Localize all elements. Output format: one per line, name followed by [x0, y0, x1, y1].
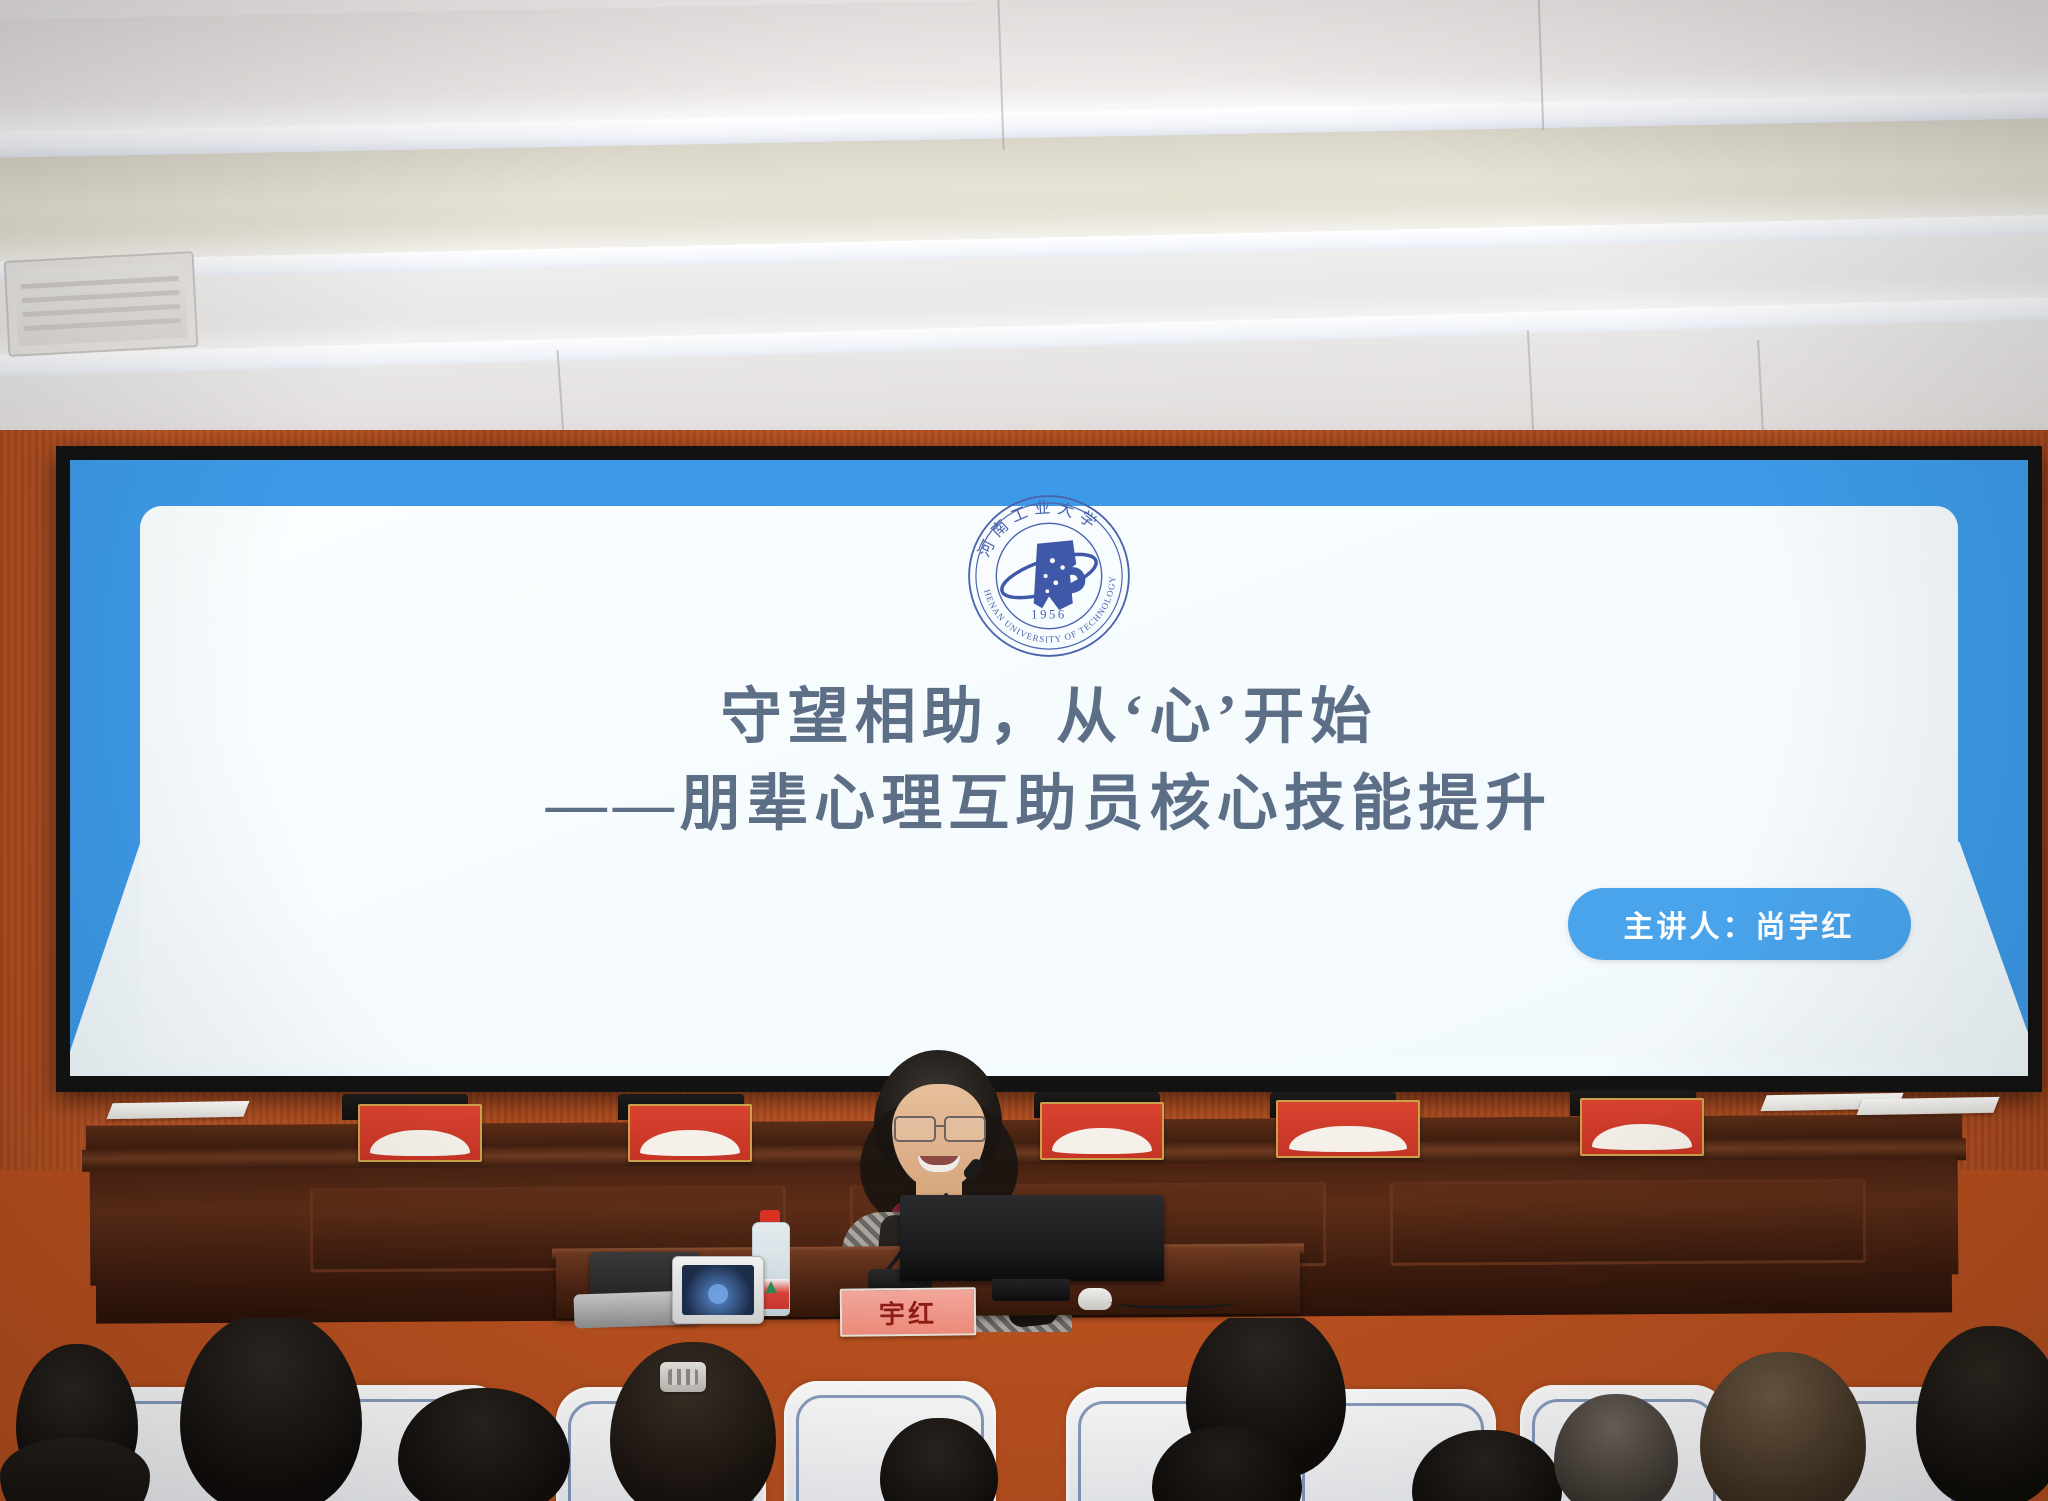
- svg-text:1956: 1956: [1031, 607, 1067, 621]
- paper-sheet: [106, 1101, 249, 1119]
- name-card-holder: [628, 1104, 752, 1162]
- slide-title-line-1: 守望相助，从‘心’开始: [70, 666, 2028, 755]
- audience-head: [1700, 1352, 1866, 1501]
- paper-sheet: [1856, 1097, 1999, 1115]
- podium-panel: [1390, 1179, 1867, 1266]
- audience-head: [1916, 1326, 2048, 1501]
- name-card-holder: [1580, 1098, 1704, 1156]
- monitor[interactable]: [900, 1195, 1164, 1281]
- glasses-icon: [892, 1116, 988, 1140]
- monitor-stand: [992, 1279, 1070, 1301]
- audience-head: [180, 1318, 362, 1501]
- audience-hair: [0, 1438, 150, 1501]
- name-card-holder: [358, 1104, 482, 1162]
- air-vent-icon: [4, 251, 199, 357]
- lecture-hall-scene: 1956 河南工业大学 HENAN UNIVERSITY OF TECHNOLO…: [0, 0, 2048, 1501]
- computer-mouse[interactable]: [1078, 1288, 1112, 1310]
- university-emblem-icon: 1956 河南工业大学 HENAN UNIVERSITY OF TECHNOLO…: [964, 491, 1134, 661]
- hair-clip: [660, 1362, 706, 1392]
- ceiling: [0, 0, 2048, 452]
- audience-seating: [0, 1318, 2048, 1501]
- projection-screen-frame: 1956 河南工业大学 HENAN UNIVERSITY OF TECHNOLO…: [56, 446, 2042, 1092]
- slide-title-line-2: ——朋辈心理互助员核心技能提升: [70, 753, 2028, 842]
- cable: [1110, 1294, 1240, 1309]
- projection-screen[interactable]: 1956 河南工业大学 HENAN UNIVERSITY OF TECHNOLO…: [70, 460, 2028, 1076]
- name-card-holder: [1276, 1100, 1420, 1158]
- slide-content: 1956 河南工业大学 HENAN UNIVERSITY OF TECHNOLO…: [70, 460, 2028, 1076]
- tablet-device[interactable]: [672, 1256, 764, 1324]
- speaker-badge: 主讲人：尚宇红: [1568, 888, 1911, 960]
